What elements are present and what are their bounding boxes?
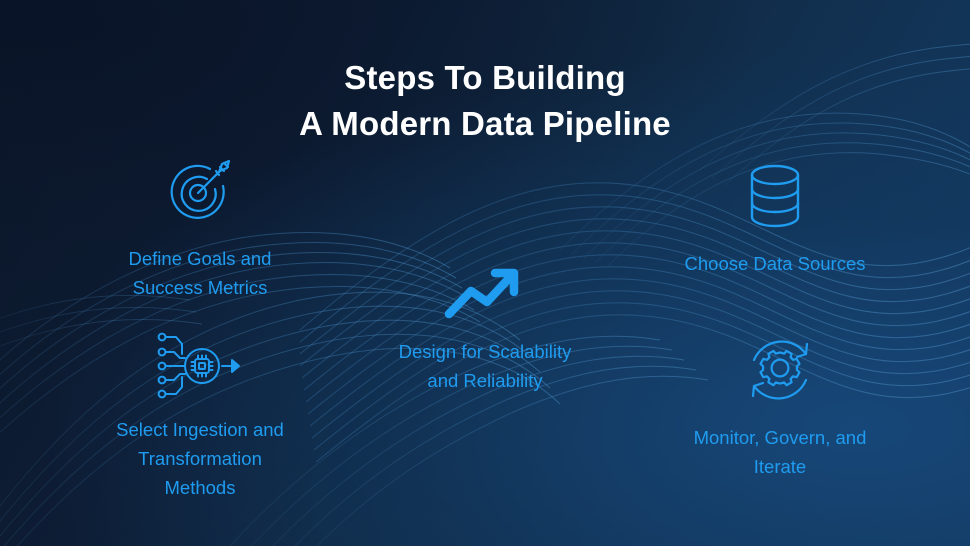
step-label: Define Goals and Success Metrics [80, 244, 320, 302]
target-arrow-icon [80, 155, 320, 234]
step-define-goals: Define Goals and Success Metrics [80, 155, 320, 302]
step-label: Monitor, Govern, and Iterate [655, 423, 905, 481]
title-line-1: Steps To Building [0, 55, 970, 101]
step-design-scalability: Design for Scalability and Reliability [365, 262, 605, 395]
gear-refresh-cycle-icon [655, 332, 905, 413]
step-choose-data-sources: Choose Data Sources [655, 160, 895, 278]
infographic-canvas: Steps To Building A Modern Data Pipeline… [0, 0, 970, 546]
page-title: Steps To Building A Modern Data Pipeline [0, 55, 970, 147]
step-label: Choose Data Sources [655, 249, 895, 278]
title-line-2: A Modern Data Pipeline [0, 101, 970, 147]
step-label: Design for Scalability and Reliability [365, 337, 605, 395]
data-processing-chip-icon [80, 330, 320, 405]
trending-up-arrow-icon [365, 262, 605, 327]
step-monitor-govern: Monitor, Govern, and Iterate [655, 332, 905, 481]
database-icon [655, 160, 895, 239]
step-label: Select Ingestion and Transformation Meth… [80, 415, 320, 502]
step-select-ingestion: Select Ingestion and Transformation Meth… [80, 330, 320, 502]
